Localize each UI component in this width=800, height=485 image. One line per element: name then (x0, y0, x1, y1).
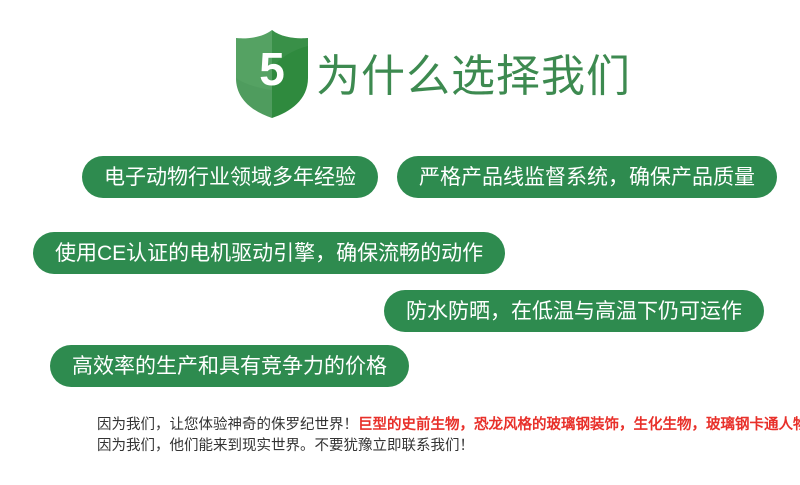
feature-pill-3: 使用CE认证的电机驱动引擎，确保流畅的动作 (33, 232, 505, 274)
footer-line-1: 因为我们，让您体验神奇的侏罗纪世界！巨型的史前生物，恐龙风格的玻璃钢装饰，生化生… (97, 415, 737, 436)
page-title: 为什么选择我们 (316, 40, 631, 104)
footer-line-1-prefix: 因为我们，让您体验神奇的侏罗纪世界！ (97, 417, 358, 433)
feature-pill-1: 电子动物行业领域多年经验 (82, 156, 378, 198)
feature-pill-label: 高效率的生产和具有竞争力的价格 (72, 356, 387, 377)
feature-pill-4: 防水防晒，在低温与高温下仍可运作 (384, 290, 764, 332)
feature-pill-2: 严格产品线监督系统，确保产品质量 (397, 156, 777, 198)
header-section: 5 为什么选择我们 (0, 0, 800, 140)
footer-line-2: 因为我们，他们能来到现实世界。不要犹豫立即联系我们！ (97, 436, 737, 457)
feature-pill-label: 严格产品线监督系统，确保产品质量 (419, 167, 755, 188)
feature-pill-label: 防水防晒，在低温与高温下仍可运作 (406, 301, 742, 322)
badge-number: 5 (232, 28, 312, 120)
shield-badge: 5 (232, 28, 312, 120)
feature-pill-label: 电子动物行业领域多年经验 (104, 167, 356, 188)
footer-text: 因为我们，让您体验神奇的侏罗纪世界！巨型的史前生物，恐龙风格的玻璃钢装饰，生化生… (97, 415, 737, 457)
footer-line-1-highlight: 巨型的史前生物，恐龙风格的玻璃钢装饰，生化生物，玻璃钢卡通人物 (358, 417, 800, 433)
feature-pill-5: 高效率的生产和具有竞争力的价格 (50, 345, 409, 387)
feature-pill-label: 使用CE认证的电机驱动引擎，确保流畅的动作 (55, 243, 483, 264)
